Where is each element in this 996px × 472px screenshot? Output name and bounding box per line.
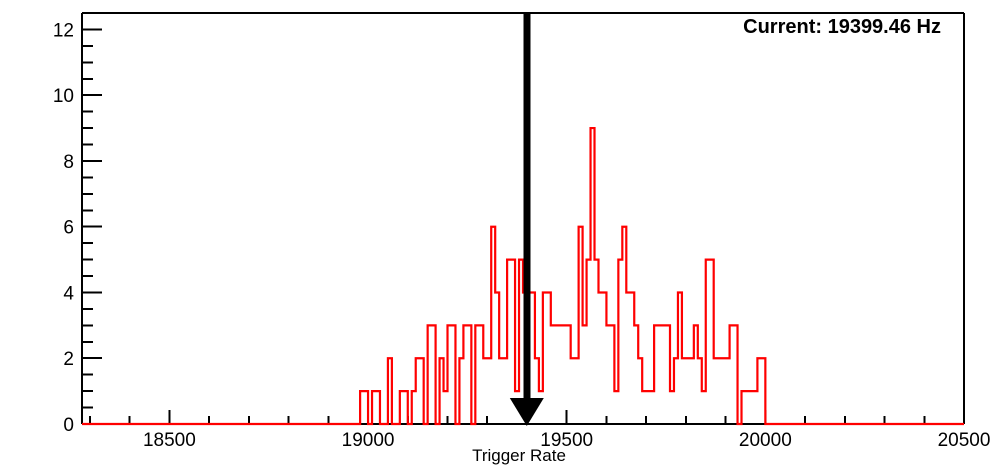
x-tick-label: 18500 [143,430,196,451]
x-tick-label: 20000 [739,430,792,451]
x-tick-label: 20500 [938,430,991,451]
y-tick-label: 4 [63,283,74,304]
axes [82,13,964,424]
y-axis-ticks [82,13,102,424]
histogram-canvas: 024681012 1850019000195002000020500 Trig… [0,0,996,472]
y-tick-label: 2 [63,349,74,370]
y-tick-label: 0 [63,415,74,436]
y-tick-label: 12 [53,20,74,41]
trigger-rate-histogram-plot: 024681012 1850019000195002000020500 Trig… [0,0,996,472]
histogram-step-outline [82,128,964,424]
x-axis-title: Trigger Rate [472,446,566,465]
y-tick-label: 8 [63,152,74,173]
marker-arrowhead-icon [510,398,544,426]
current-rate-readout: Current: 19399.46 Hz [743,16,941,38]
y-tick-label: 10 [53,86,74,107]
y-axis-tick-labels: 024681012 [53,20,75,436]
x-axis-tick-labels: 1850019000195002000020500 [143,430,990,451]
x-tick-label: 19000 [342,430,395,451]
y-tick-label: 6 [63,218,74,239]
